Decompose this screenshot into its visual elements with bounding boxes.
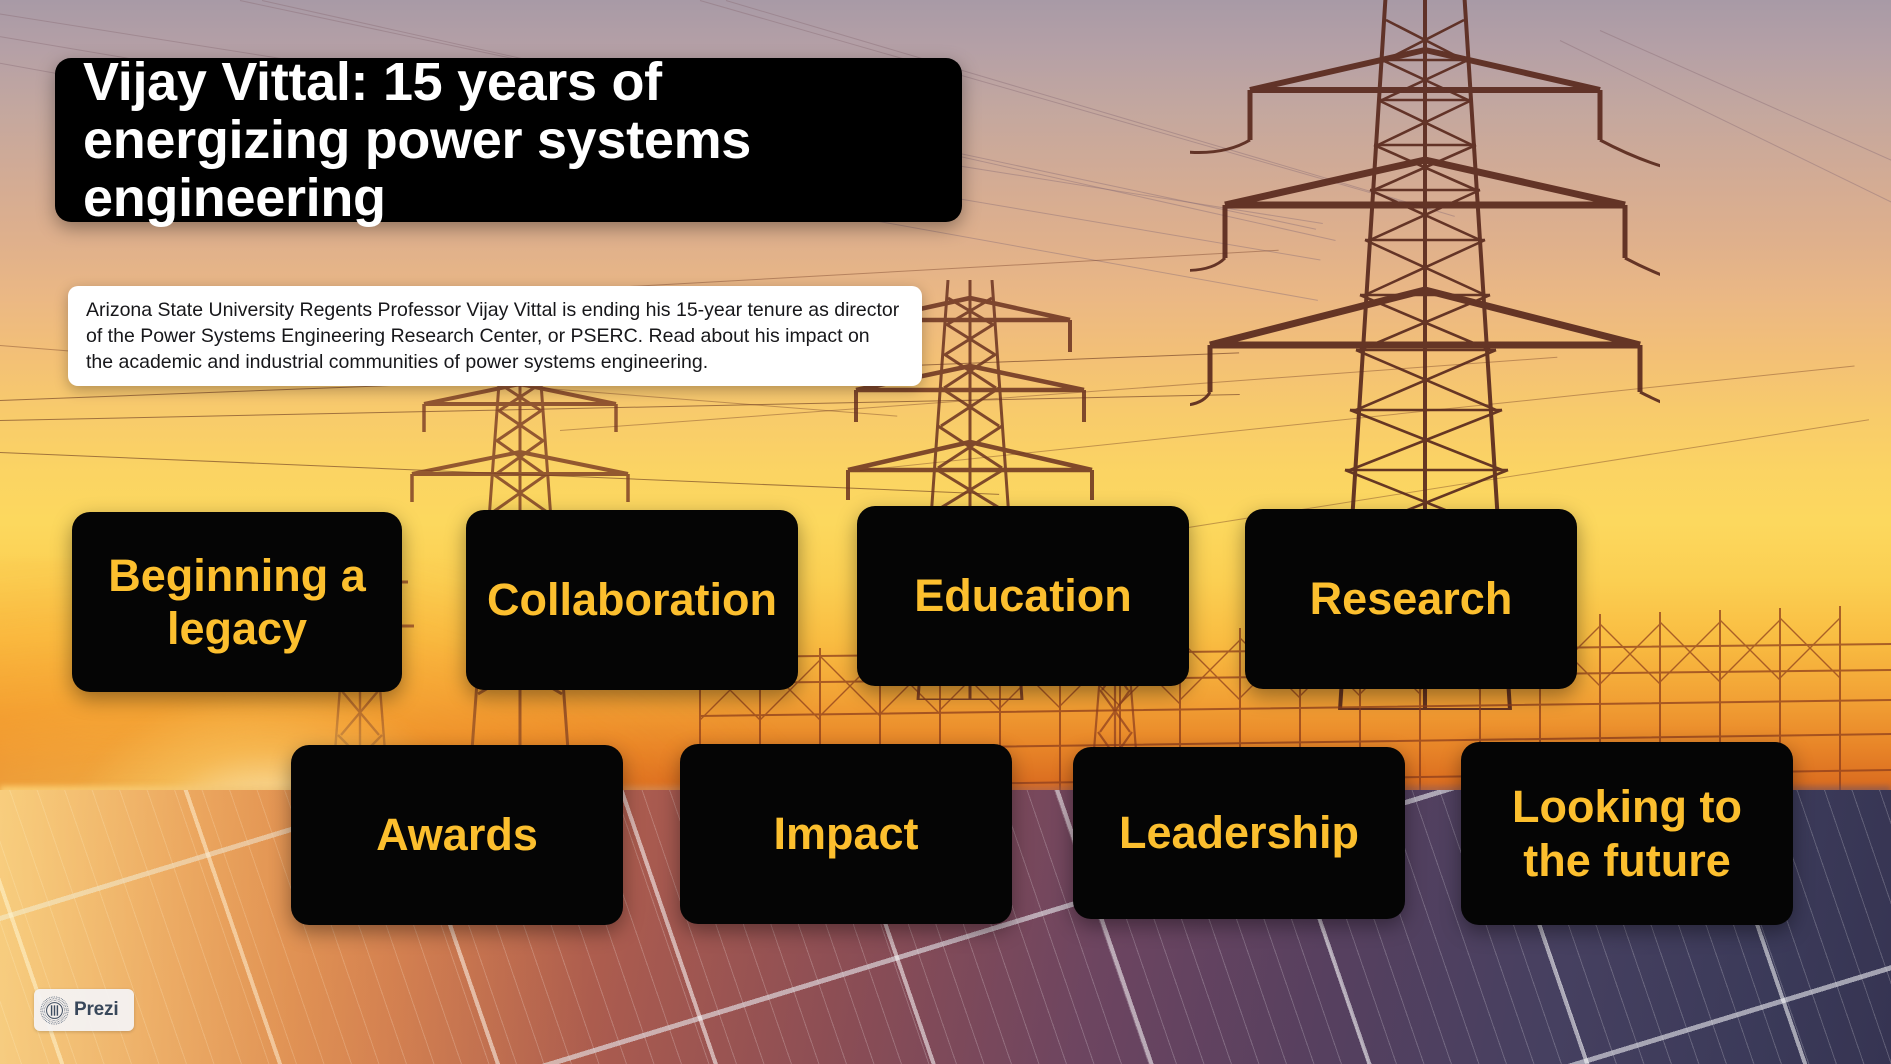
- description-text: Arizona State University Regents Profess…: [68, 297, 922, 376]
- topic-card-awards[interactable]: Awards: [291, 745, 623, 925]
- topic-card-label: Education: [902, 569, 1144, 622]
- title-card: Vijay Vittal: 15 years of energizing pow…: [55, 58, 962, 222]
- topic-card-label: Impact: [761, 807, 930, 860]
- topic-card-beginning-a-legacy[interactable]: Beginning a legacy: [72, 512, 402, 692]
- topic-card-label: Beginning a legacy: [72, 549, 402, 655]
- topic-card-looking-to-the-future[interactable]: Looking to the future: [1461, 742, 1793, 925]
- prezi-sunburst-icon: [40, 996, 69, 1025]
- topic-card-education[interactable]: Education: [857, 506, 1189, 686]
- topic-card-label: Collaboration: [475, 573, 789, 626]
- prezi-wordmark: Prezi: [74, 999, 118, 1021]
- page-title: Vijay Vittal: 15 years of energizing pow…: [55, 53, 962, 228]
- topic-card-impact[interactable]: Impact: [680, 744, 1012, 924]
- prezi-badge[interactable]: Prezi: [34, 989, 134, 1031]
- topic-card-collaboration[interactable]: Collaboration: [466, 510, 798, 690]
- topic-card-label: Leadership: [1107, 806, 1371, 859]
- description-card: Arizona State University Regents Profess…: [68, 286, 922, 386]
- topic-card-research[interactable]: Research: [1245, 509, 1577, 689]
- slide-canvas: Vijay Vittal: 15 years of energizing pow…: [0, 0, 1891, 1064]
- topic-card-label: Research: [1298, 572, 1525, 625]
- topic-card-label: Looking to the future: [1461, 780, 1793, 886]
- topic-card-leadership[interactable]: Leadership: [1073, 747, 1405, 919]
- topic-card-label: Awards: [364, 808, 550, 861]
